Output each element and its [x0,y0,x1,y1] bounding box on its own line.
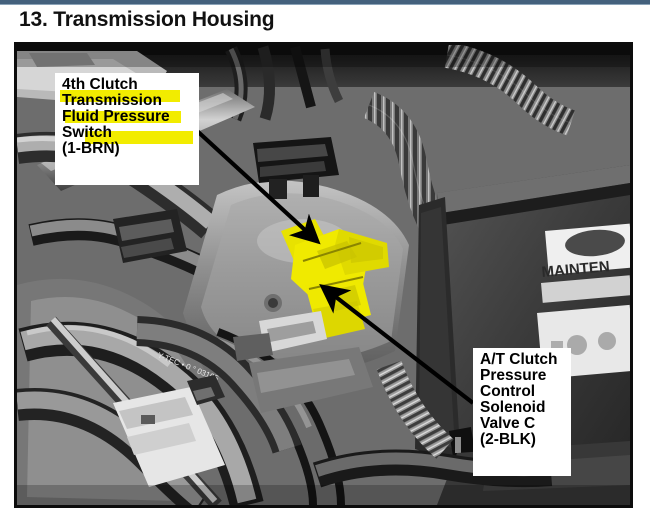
window-top-bar [0,0,650,5]
callout-switch-line-2: Transmission [62,93,192,109]
page-title: 13. Transmission Housing [19,8,274,32]
callout-solenoid-line-4: Solenoid [480,400,564,416]
callout-solenoid-line-5: Valve C [480,416,564,432]
callout-solenoid-line-6: (2-BLK) [480,432,564,448]
callout-solenoid-line-1: A/T Clutch [480,352,564,368]
callout-switch-line-3: Fluid Pressure [62,109,192,125]
callout-switch-line-5: (1-BRN) [62,141,192,157]
callout-4th-clutch-transmission-fluid-pressure-switch: 4th Clutch Transmission Fluid Pressure S… [55,73,199,185]
callout-solenoid-line-3: Control [480,384,564,400]
callout-switch-line-4: Switch [62,125,192,141]
callout-switch-line-1: 4th Clutch [62,77,192,93]
callout-at-clutch-pressure-control-solenoid-valve-c: A/T Clutch Pressure Control Solenoid Val… [473,348,571,476]
photo-frame: MAINTEN [14,42,633,508]
callout-solenoid-line-2: Pressure [480,368,564,384]
